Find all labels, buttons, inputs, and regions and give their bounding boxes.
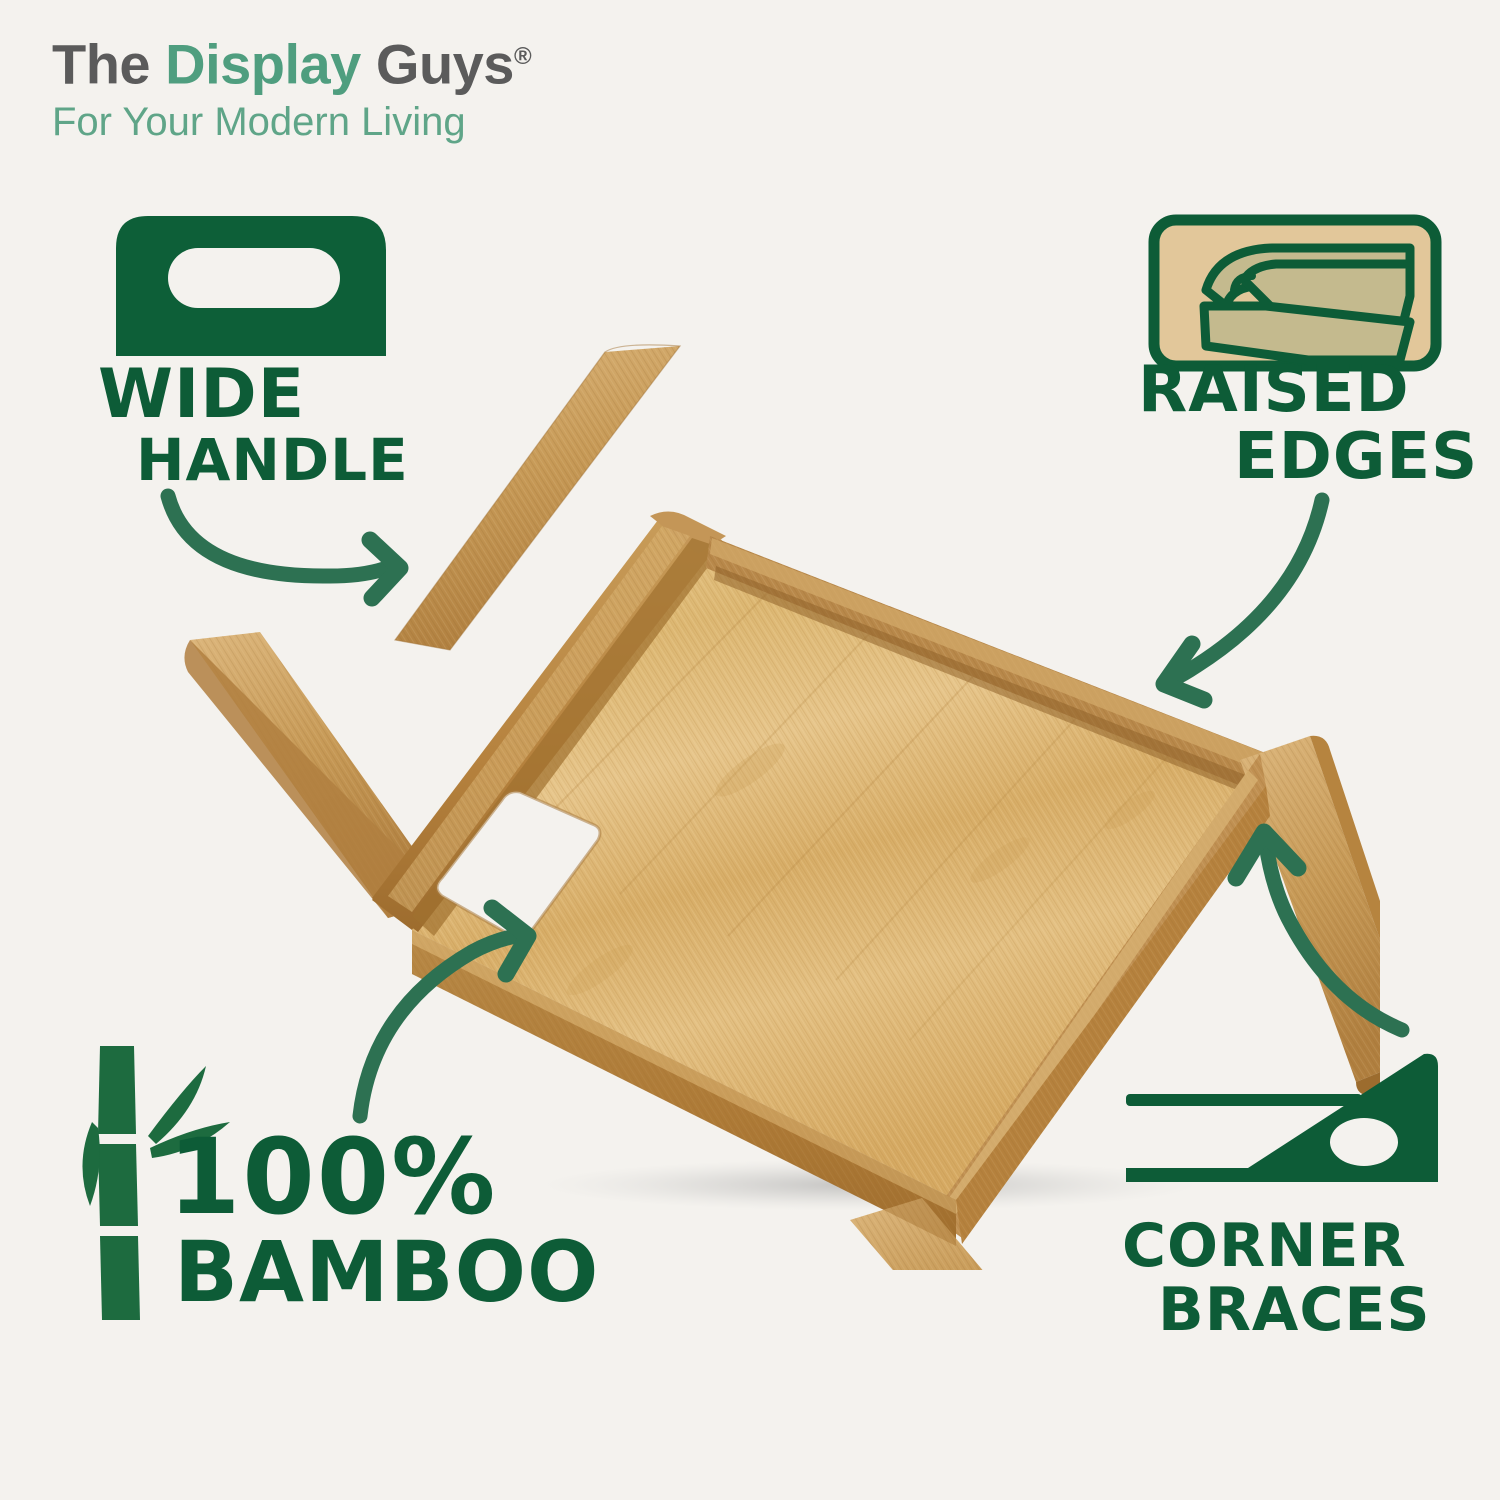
feature-line1: 100%: [168, 1128, 599, 1228]
feature-label-wide-handle: WIDE HANDLE: [98, 362, 409, 489]
logo-tagline: For Your Modern Living: [52, 98, 531, 146]
feature-label-raised-edges: RAISED EDGES: [1138, 360, 1478, 489]
feature-label-corner-braces: CORNER BRACES: [1122, 1218, 1431, 1339]
feature-line1: CORNER: [1122, 1218, 1431, 1276]
infographic-canvas: The Display Guys® For Your Modern Living: [0, 0, 1500, 1500]
feature-line2: BRACES: [1158, 1282, 1431, 1340]
feature-line2: BAMBOO: [174, 1232, 599, 1313]
logo-word-display: Display: [165, 33, 361, 96]
logo-word-guys: Guys: [361, 33, 514, 96]
feature-label-bamboo: 100% BAMBOO: [168, 1128, 599, 1312]
logo-word-the: The: [52, 33, 165, 96]
brand-logo: The Display Guys® For Your Modern Living: [52, 26, 531, 146]
feature-line1: RAISED: [1138, 360, 1478, 421]
logo-wordmark: The Display Guys®: [52, 26, 531, 96]
feature-line1: WIDE: [98, 362, 409, 427]
registered-trademark-icon: ®: [514, 43, 531, 70]
corner-brace-icon: [1116, 1042, 1448, 1190]
raised-edge-profile-icon: [1148, 214, 1442, 372]
handle-cutout-icon: [90, 212, 410, 360]
feature-line2: HANDLE: [136, 433, 409, 489]
feature-line2: EDGES: [1234, 427, 1478, 488]
